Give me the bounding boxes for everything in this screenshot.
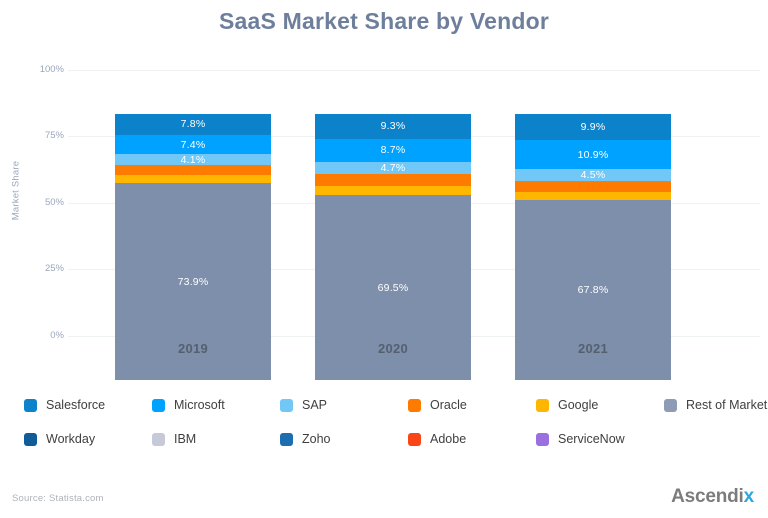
bar-segment-salesforce-2021[interactable]: 9.9% — [515, 114, 671, 140]
legend-item-ibm[interactable]: IBM — [152, 432, 280, 446]
bar-segment-value-label: 4.1% — [181, 154, 206, 165]
chart-plot-area: Market Share 100% 75% 50% 25% 0% 73.9%4.… — [0, 0, 768, 380]
legend-item-label: SAP — [302, 398, 327, 412]
legend-swatch-icon — [536, 433, 549, 446]
bar-segment-sap-2019[interactable]: 4.1% — [115, 154, 271, 165]
y-tick-label-75: 75% — [16, 131, 64, 141]
bar-segment-oracle-2020[interactable] — [315, 174, 471, 185]
legend-item-workday[interactable]: Workday — [24, 432, 152, 446]
legend-item-label: Salesforce — [46, 398, 105, 412]
x-tick-label-2020: 2020 — [315, 341, 471, 356]
legend-item-label: Zoho — [302, 432, 331, 446]
bar-segment-salesforce-2020[interactable]: 9.3% — [315, 114, 471, 139]
legend-item-servicenow[interactable]: ServiceNow — [536, 432, 664, 446]
legend-item-label: Microsoft — [174, 398, 225, 412]
legend-item-oracle[interactable]: Oracle — [408, 398, 536, 412]
legend-swatch-icon — [24, 399, 37, 412]
bar-segment-value-label: 8.7% — [381, 144, 406, 156]
legend-item-label: Oracle — [430, 398, 467, 412]
legend-item-google[interactable]: Google — [536, 398, 664, 412]
legend-item-label: Google — [558, 398, 598, 412]
bar-segment-microsoft-2020[interactable]: 8.7% — [315, 139, 471, 162]
chart-legend: SalesforceMicrosoftSAPOracleGoogleRest o… — [24, 388, 760, 456]
bar-segment-microsoft-2019[interactable]: 7.4% — [115, 135, 271, 155]
legend-item-adobe[interactable]: Adobe — [408, 432, 536, 446]
legend-item-label: Rest of Market — [686, 398, 767, 412]
legend-swatch-icon — [24, 433, 37, 446]
legend-item-sap[interactable]: SAP — [280, 398, 408, 412]
x-tick-label-2019: 2019 — [115, 341, 271, 356]
legend-item-label: Adobe — [430, 432, 466, 446]
bar-segment-value-label: 7.8% — [181, 118, 206, 130]
bar-segment-value-label: 73.9% — [178, 276, 209, 288]
ascendix-logo-accent: x — [744, 486, 754, 507]
ascendix-logo: Ascendix — [671, 486, 754, 508]
y-tick-label-25: 25% — [16, 264, 64, 274]
legend-item-zoho[interactable]: Zoho — [280, 432, 408, 446]
legend-item-microsoft[interactable]: Microsoft — [152, 398, 280, 412]
legend-swatch-icon — [664, 399, 677, 412]
bar-segment-oracle-2019[interactable] — [115, 165, 271, 175]
bar-segment-value-label: 4.7% — [381, 162, 406, 174]
gridline-100 — [68, 70, 760, 71]
legend-swatch-icon — [536, 399, 549, 412]
bar-segment-value-label: 9.9% — [581, 121, 606, 133]
legend-row-1: SalesforceMicrosoftSAPOracleGoogleRest o… — [24, 388, 760, 422]
bar-segment-google-2021[interactable] — [515, 192, 671, 200]
bar-segment-value-label: 7.4% — [181, 139, 206, 151]
bar-segment-sap-2020[interactable]: 4.7% — [315, 162, 471, 175]
bar-segment-salesforce-2019[interactable]: 7.8% — [115, 114, 271, 135]
legend-swatch-icon — [280, 433, 293, 446]
bar-segment-google-2020[interactable] — [315, 186, 471, 195]
bar-segment-microsoft-2021[interactable]: 10.9% — [515, 140, 671, 169]
bar-segment-google-2019[interactable] — [115, 175, 271, 183]
bar-segment-value-label: 69.5% — [378, 282, 409, 294]
legend-item-label: IBM — [174, 432, 196, 446]
y-tick-label-50: 50% — [16, 198, 64, 208]
legend-swatch-icon — [152, 399, 165, 412]
legend-row-2: WorkdayIBMZohoAdobeServiceNow — [24, 422, 760, 456]
legend-item-label: ServiceNow — [558, 432, 625, 446]
legend-swatch-icon — [408, 433, 421, 446]
bar-segment-value-label: 9.3% — [381, 120, 406, 132]
legend-item-rest-of-market[interactable]: Rest of Market — [664, 398, 768, 412]
ascendix-logo-text: Ascendi — [671, 486, 744, 507]
bar-segment-value-label: 10.9% — [578, 149, 609, 161]
bar-segment-sap-2021[interactable]: 4.5% — [515, 169, 671, 181]
y-tick-label-0: 0% — [16, 331, 64, 341]
legend-item-salesforce[interactable]: Salesforce — [24, 398, 152, 412]
y-tick-label-100: 100% — [16, 65, 64, 75]
bar-segment-value-label: 4.5% — [581, 169, 606, 181]
legend-item-label: Workday — [46, 432, 95, 446]
source-attribution: Source: Statista.com — [12, 493, 104, 504]
x-tick-label-2021: 2021 — [515, 341, 671, 356]
y-axis-title: Market Share — [11, 151, 22, 231]
legend-swatch-icon — [408, 399, 421, 412]
legend-swatch-icon — [152, 433, 165, 446]
bar-segment-oracle-2021[interactable] — [515, 181, 671, 192]
legend-swatch-icon — [280, 399, 293, 412]
bar-segment-value-label: 67.8% — [578, 284, 609, 296]
